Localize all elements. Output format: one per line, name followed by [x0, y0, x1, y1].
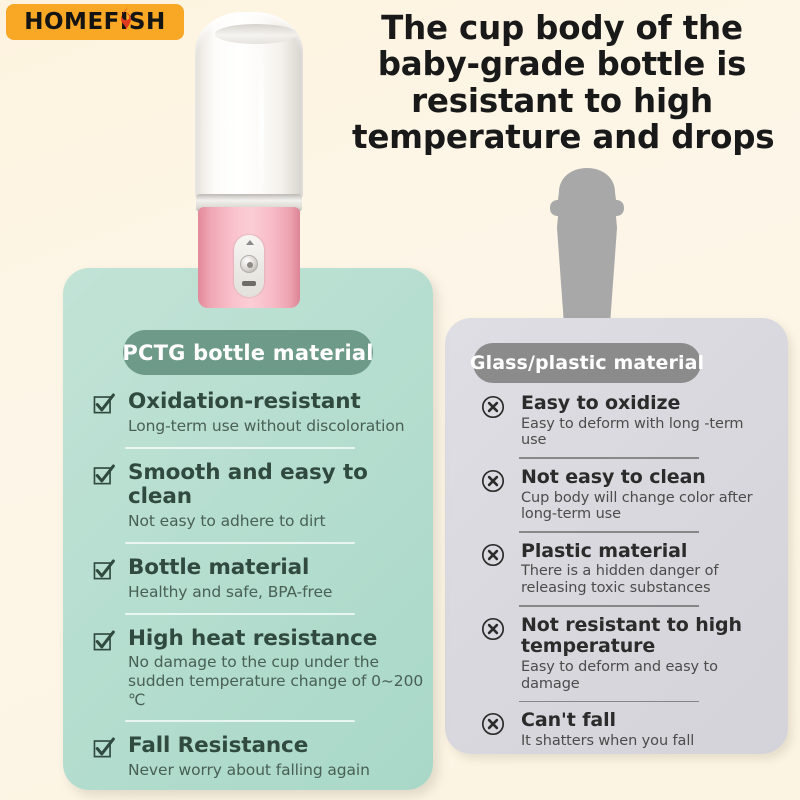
power-button-icon[interactable]: [240, 255, 258, 273]
panel-title-glass-plastic-label: Glass/plastic material: [470, 352, 704, 374]
list-item-title: Not resistant to high temperature: [521, 615, 771, 658]
check-square-icon: [93, 464, 115, 486]
list-item: Easy to oxidize Easy to deform with long…: [481, 393, 771, 449]
blender-cup-body: [195, 12, 303, 202]
power-button-center: [247, 262, 253, 268]
panel-title-pctg-label: PCTG bottle material: [122, 341, 373, 365]
triangle-indicator-icon: [246, 240, 254, 245]
list-item-subtitle: Never worry about falling again: [128, 761, 427, 780]
headline-line-3: resistant to high: [352, 83, 772, 119]
list-item-title: Can't fall: [521, 710, 771, 732]
flame-icon: [119, 6, 133, 30]
list-item: Not resistant to high temperature Easy t…: [481, 615, 771, 693]
divider: [519, 531, 699, 533]
list-item: Oxidation-resistant Long-term use withou…: [93, 390, 427, 436]
list-item-subtitle: No damage to the cup under the sudden te…: [128, 653, 427, 709]
divider: [125, 447, 355, 449]
x-circle-icon: [481, 395, 505, 419]
brand-logo-text: HOMEFISH: [24, 9, 165, 35]
check-square-icon: [93, 737, 115, 759]
check-square-icon: [93, 559, 115, 581]
drawback-list: Easy to oxidize Easy to deform with long…: [481, 393, 771, 750]
comparison-panel-pctg: PCTG bottle material Oxidation-resistant…: [63, 268, 433, 790]
list-item-title: High heat resistance: [128, 627, 427, 652]
blender-cup-rim: [215, 24, 297, 44]
divider: [519, 457, 699, 459]
blender-pink-base: [198, 207, 300, 308]
list-item-subtitle: Not easy to adhere to dirt: [128, 512, 427, 531]
list-item-subtitle: Cup body will change color after long-te…: [521, 490, 771, 524]
check-square-icon: [93, 393, 115, 415]
list-item-subtitle: Healthy and safe, BPA-free: [128, 583, 427, 602]
divider: [125, 613, 355, 615]
list-item: Bottle material Healthy and safe, BPA-fr…: [93, 556, 427, 602]
infographic-canvas: HOMEFISH The cup body of the baby-grade …: [0, 0, 800, 800]
list-item: Fall Resistance Never worry about fallin…: [93, 734, 427, 780]
blender-control-panel: [234, 235, 264, 297]
list-item-subtitle: It shatters when you fall: [521, 733, 771, 750]
panel-title-glass-plastic: Glass/plastic material: [473, 343, 701, 383]
list-item-title: Easy to oxidize: [521, 393, 771, 415]
list-item: Not easy to clean Cup body will change c…: [481, 467, 771, 523]
list-item-subtitle: Easy to deform and easy to damage: [521, 659, 771, 693]
list-item-subtitle: Long-term use without discoloration: [128, 417, 427, 436]
headline-line-2: baby-grade bottle is: [352, 46, 772, 82]
headline-line-1: The cup body of the: [352, 10, 772, 46]
x-circle-icon: [481, 712, 505, 736]
list-item: Smooth and easy to clean Not easy to adh…: [93, 461, 427, 531]
headline-line-4: temperature and drops: [352, 119, 772, 155]
divider: [125, 720, 355, 722]
list-item-title: Bottle material: [128, 556, 427, 581]
comparison-panel-glass-plastic: Glass/plastic material Easy to oxidize E…: [445, 318, 788, 754]
divider: [125, 542, 355, 544]
list-item-title: Oxidation-resistant: [128, 390, 427, 415]
list-item-subtitle: There is a hidden danger of releasing to…: [521, 563, 771, 597]
check-square-icon: [93, 630, 115, 652]
brand-logo: HOMEFISH: [6, 4, 184, 40]
blender-cup-highlight: [259, 48, 264, 198]
x-circle-icon: [481, 617, 505, 641]
list-item-title: Smooth and easy to clean: [128, 461, 427, 511]
benefit-list: Oxidation-resistant Long-term use withou…: [93, 390, 427, 780]
list-item: Can't fall It shatters when you fall: [481, 710, 771, 749]
x-circle-icon: [481, 543, 505, 567]
page-title: The cup body of the baby-grade bottle is…: [352, 10, 772, 156]
panel-title-pctg: PCTG bottle material: [123, 330, 373, 375]
list-item-title: Plastic material: [521, 541, 771, 563]
list-item-title: Not easy to clean: [521, 467, 771, 489]
list-item-subtitle: Easy to deform with long -term use: [521, 416, 771, 450]
x-circle-icon: [481, 469, 505, 493]
list-item: High heat resistance No damage to the cu…: [93, 627, 427, 710]
divider: [519, 701, 699, 703]
list-item: Plastic material There is a hidden dange…: [481, 541, 771, 597]
list-item-title: Fall Resistance: [128, 734, 427, 759]
portable-blender-bottle: [188, 4, 310, 304]
divider: [519, 605, 699, 607]
status-bar-indicator: [242, 281, 256, 286]
